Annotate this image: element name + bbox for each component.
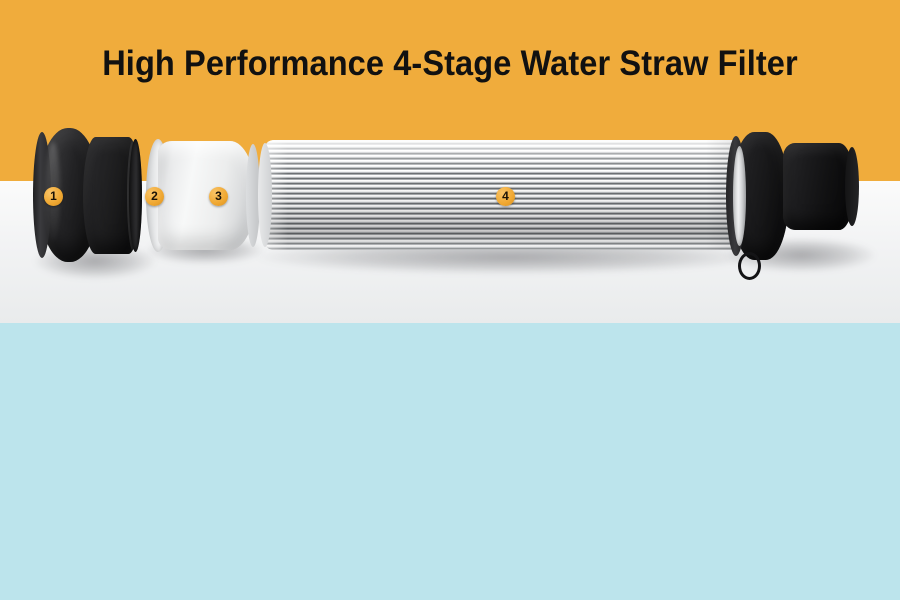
outlet-nozzle-tip	[845, 147, 859, 226]
product-photo: High Performance 4-Stage Water Straw Fil…	[0, 0, 900, 323]
mouthpiece-cap-ring	[129, 139, 142, 252]
badge-2[interactable]: 2	[145, 187, 164, 206]
info-panel: 4-Stage Filtration System Coconut Shell …	[0, 323, 900, 600]
page-title: High Performance 4-Stage Water Straw Fil…	[32, 44, 869, 84]
badge-1[interactable]: 1	[44, 187, 63, 206]
product-infographic: High Performance 4-Stage Water Straw Fil…	[0, 0, 900, 600]
badge-3[interactable]: 3	[209, 187, 228, 206]
lanyard-hook-icon	[738, 252, 761, 280]
filter-cartridge-left-cap	[258, 143, 272, 247]
badge-4[interactable]: 4	[496, 187, 515, 206]
end-cap-bore	[733, 146, 746, 246]
carbon-block-body	[158, 141, 256, 250]
